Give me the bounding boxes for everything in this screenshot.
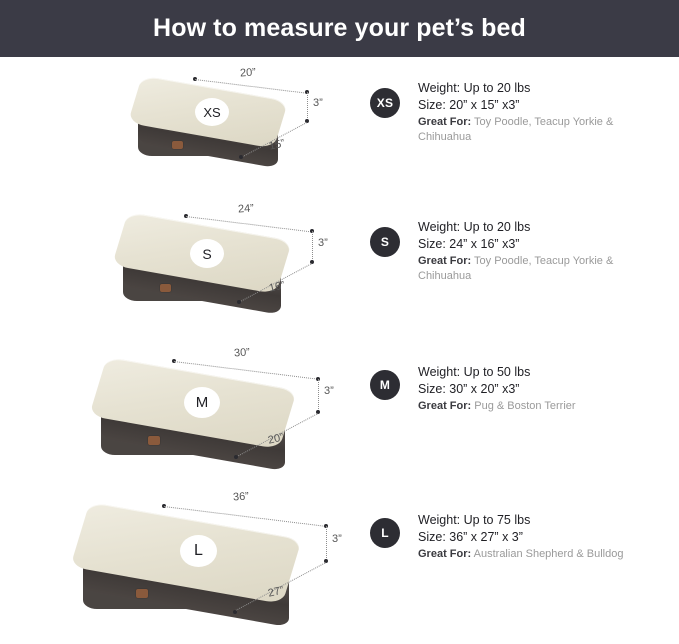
dim-label-width: 30” (234, 346, 251, 359)
bed-illustration-xs: XS 20” 3” 15” (133, 79, 313, 189)
great-for-label: Great For: (418, 548, 471, 560)
great-for-label: Great For: (418, 255, 471, 267)
dim-dot-depth-end (233, 610, 237, 614)
dim-line-height (318, 379, 319, 411)
bed-size-oval-s: S (190, 239, 224, 268)
great-for-label: Great For: (418, 116, 471, 128)
dim-dot-depth-end (237, 300, 241, 304)
dim-line-height (326, 526, 327, 560)
size-row-s: S 24” 3” 16” S Weight: Up to 20 lbs Size… (0, 199, 679, 341)
dim-label-height: 3” (313, 97, 323, 109)
dim-dot-depth-end (234, 455, 238, 459)
great-for-line: Great For: Toy Poodle, Teacup Yorkie & C… (418, 115, 648, 145)
dim-dot-depth-end (239, 155, 243, 159)
bed-size-oval-label: XS (203, 105, 220, 120)
size-rows: XS 20” 3” 15” XS Weight: Up to 20 lbs Si… (0, 57, 679, 627)
bed-size-oval-label: M (196, 394, 209, 411)
bed-size-oval-label: S (202, 246, 211, 262)
size-info-text: Weight: Up to 20 lbs Size: 20” x 15” x3”… (418, 80, 648, 145)
size-line: Size: 20” x 15” x3” (418, 97, 648, 114)
great-for-value: Australian Shepherd & Bulldog (474, 548, 624, 560)
size-info-text: Weight: Up to 50 lbs Size: 30” x 20” x3”… (418, 364, 648, 414)
dim-label-width: 24” (238, 202, 255, 215)
size-line: Size: 30” x 20” x3” (418, 381, 648, 398)
size-badge-label: M (380, 378, 390, 392)
size-info-l: L Weight: Up to 75 lbs Size: 36” x 27” x… (370, 512, 660, 582)
weight-line: Weight: Up to 20 lbs (418, 80, 648, 97)
brand-tag (148, 436, 160, 445)
bed-illustration-s: S 24” 3” 16” (118, 217, 318, 337)
great-for-value: Pug & Boston Terrier (474, 400, 575, 412)
size-line: Size: 36” x 27” x 3” (418, 529, 668, 546)
bed-size-oval-l: L (180, 535, 217, 567)
dim-label-height: 3” (324, 385, 334, 397)
size-badge-m: M (370, 370, 400, 400)
dim-label-height: 3” (332, 533, 342, 545)
page-header: How to measure your pet’s bed (0, 0, 679, 57)
dim-label-depth: 16” (268, 279, 286, 294)
dim-label-depth: 15” (268, 137, 286, 152)
size-badge-label: S (381, 235, 389, 249)
size-badge-l: L (370, 518, 400, 548)
dim-label-width: 20” (240, 66, 257, 79)
great-for-line: Great For: Australian Shepherd & Bulldog (418, 547, 668, 562)
weight-line: Weight: Up to 20 lbs (418, 219, 648, 236)
dim-label-width: 36” (233, 490, 250, 503)
size-info-text: Weight: Up to 75 lbs Size: 36” x 27” x 3… (418, 512, 668, 562)
bed-size-oval-label: L (194, 542, 203, 560)
weight-line: Weight: Up to 50 lbs (418, 364, 648, 381)
great-for-label: Great For: (418, 400, 471, 412)
bed-size-oval-xs: XS (195, 98, 229, 126)
brand-tag (136, 589, 148, 598)
bed-illustration-l: L 36” 3” 27” (78, 509, 328, 644)
weight-line: Weight: Up to 75 lbs (418, 512, 668, 529)
dim-line-height (307, 92, 308, 120)
size-row-m: M 30” 3” 20” M Weight: Up to 50 lbs Size… (0, 341, 679, 487)
dim-label-height: 3” (318, 237, 328, 249)
size-badge-xs: XS (370, 88, 400, 118)
size-row-xs: XS 20” 3” 15” XS Weight: Up to 20 lbs Si… (0, 57, 679, 199)
page-title: How to measure your pet’s bed (153, 14, 526, 43)
brand-tag (172, 141, 183, 149)
brand-tag (160, 284, 171, 292)
bed-size-oval-m: M (184, 387, 220, 418)
size-badge-s: S (370, 227, 400, 257)
size-info-text: Weight: Up to 20 lbs Size: 24” x 16” x3”… (418, 219, 648, 284)
great-for-line: Great For: Pug & Boston Terrier (418, 399, 648, 414)
great-for-line: Great For: Toy Poodle, Teacup Yorkie & C… (418, 254, 648, 284)
bed-illustration-m: M 30” 3” 20” (96, 363, 321, 489)
size-info-s: S Weight: Up to 20 lbs Size: 24” x 16” x… (370, 219, 650, 299)
size-badge-label: L (381, 526, 389, 540)
size-badge-label: XS (377, 96, 393, 110)
size-line: Size: 24” x 16” x3” (418, 236, 648, 253)
size-info-m: M Weight: Up to 50 lbs Size: 30” x 20” x… (370, 364, 650, 434)
dim-line-height (312, 231, 313, 261)
size-info-xs: XS Weight: Up to 20 lbs Size: 20” x 15” … (370, 80, 650, 160)
size-row-l: L 36” 3” 27” L Weight: Up to 75 lbs Size… (0, 487, 679, 627)
